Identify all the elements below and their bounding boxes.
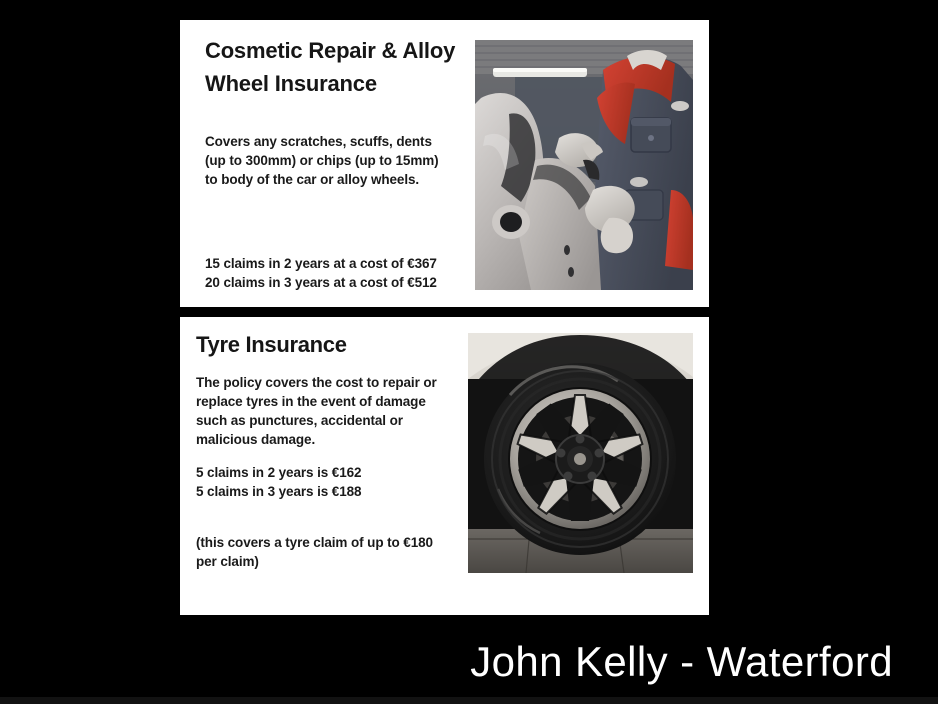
alloy-wheel-tyre-photo <box>468 333 693 573</box>
cosmetic-title-line-3: Insurance <box>275 71 377 96</box>
car-bodywork-repair-photo <box>475 40 693 290</box>
tyre-note-line-2: per claim) <box>196 552 481 571</box>
tyre-desc-line-3: such as punctures, accidental or <box>196 411 476 430</box>
tyre-claims-line-2: 5 claims in 3 years is €188 <box>196 482 476 501</box>
cosmetic-title-line-1: Cosmetic Repair <box>205 38 376 63</box>
tyre-insurance-card: Tyre Insurance The policy covers the cos… <box>180 317 709 615</box>
bottom-edge-strip <box>0 697 938 704</box>
tyre-description: The policy covers the cost to repair or … <box>196 373 476 449</box>
tyre-claims-stats: 5 claims in 2 years is €162 5 claims in … <box>196 463 476 501</box>
presenter-name-caption: John Kelly - Waterford <box>0 636 893 688</box>
tyre-note-line-1: (this covers a tyre claim of up to €180 <box>196 533 481 552</box>
cosmetic-description: Covers any scratches, scuffs, dents (up … <box>205 132 475 189</box>
cosmetic-claims-stats: 15 claims in 2 years at a cost of €367 2… <box>205 254 495 292</box>
cosmetic-claims-line-1: 15 claims in 2 years at a cost of €367 <box>205 254 495 273</box>
tyre-desc-line-1: The policy covers the cost to repair or <box>196 373 476 392</box>
tyre-card-title: Tyre Insurance <box>196 331 476 359</box>
cosmetic-card-title: Cosmetic Repair & Alloy Wheel Insurance <box>205 34 475 100</box>
tyre-claim-limit-note: (this covers a tyre claim of up to €180 … <box>196 533 481 571</box>
tyre-desc-line-4: malicious damage. <box>196 430 476 449</box>
tyre-claims-line-1: 5 claims in 2 years is €162 <box>196 463 476 482</box>
cosmetic-desc-line-3: to body of the car or alloy wheels. <box>205 170 475 189</box>
cosmetic-claims-line-2: 20 claims in 3 years at a cost of €512 <box>205 273 495 292</box>
cosmetic-repair-card: Cosmetic Repair & Alloy Wheel Insurance … <box>180 20 709 307</box>
presentation-slide: Cosmetic Repair & Alloy Wheel Insurance … <box>0 0 938 704</box>
cosmetic-desc-line-2: (up to 300mm) or chips (up to 15mm) <box>205 151 475 170</box>
tyre-desc-line-2: replace tyres in the event of damage <box>196 392 476 411</box>
cosmetic-desc-line-1: Covers any scratches, scuffs, dents <box>205 132 475 151</box>
